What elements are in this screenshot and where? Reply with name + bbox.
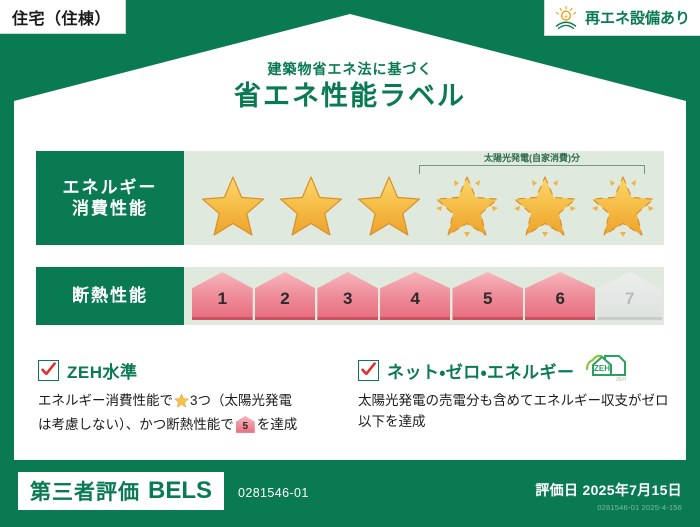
dwelling-type-tag: 住宅（住棟） [0, 0, 126, 34]
energy-performance-row: エネルギー 消費性能 太陽光発電(自家消費)分 [36, 151, 664, 245]
insulation-grade-panel: 1 2 3 4 5 6 7 [184, 267, 664, 325]
grade-house-6: 6 [525, 272, 595, 320]
svg-text:+: + [564, 14, 568, 20]
zeh-logo-icon: ZEH ZEH [585, 353, 631, 388]
energy-star-panel: 太陽光発電(自家消費)分 [184, 151, 664, 245]
inline-grade-house-icon: 5 [236, 416, 255, 433]
energy-performance-label: エネルギー 消費性能 [36, 151, 184, 245]
renewable-equipment-label: 再エネ設備あり [585, 7, 690, 28]
evaluation-date-label: 評価日 [535, 482, 578, 498]
energy-label-line2: 消費性能 [72, 198, 148, 219]
grade-value: 2 [280, 290, 289, 317]
grade-house-1: 1 [192, 272, 253, 320]
evaluation-date-subcode: 0281546-01 2025-4-156 [535, 503, 682, 512]
grade-value: 1 [218, 290, 227, 317]
label-subtitle: 建築物省エネ法に基づく [0, 62, 700, 77]
svg-text:ZEH: ZEH [594, 364, 610, 373]
star-filled [272, 170, 350, 242]
label-footer: 第三者評価 BELS 0281546-01 評価日 2025年7月15日 028… [0, 460, 700, 527]
zeh-description: エネルギー消費性能で3つ（太陽光発電は考慮しない）、かつ断熱性能で5を達成 [38, 391, 340, 436]
criteria-zeh-header: ZEH水準 [38, 358, 340, 382]
grade-value: 5 [483, 290, 492, 317]
insulation-grade-scale: 1 2 3 4 5 6 7 [192, 267, 664, 325]
svg-text:ZEH: ZEH [616, 377, 626, 383]
energy-label-line1: エネルギー [63, 177, 158, 198]
net-zero-checkbox[interactable] [358, 360, 379, 381]
bels-certificate-number: 0281546-01 [238, 486, 309, 500]
evaluation-date-block: 評価日 2025年7月15日 0281546-01 2025-4-156 [535, 480, 682, 512]
star-rating [184, 170, 664, 242]
label-title-block: 建築物省エネ法に基づく 省エネ性能ラベル [0, 62, 700, 112]
criteria-net-zero: ネット・ゼロ・エネルギー ZEH ZEH 太陽光発電の売電分も含めてエネルギー収… [358, 358, 670, 433]
grade-house-7: 7 [597, 272, 662, 320]
grade-value: 4 [411, 290, 420, 317]
net-zero-description: 太陽光発電の売電分も含めてエネルギー収支がゼロ以下を達成 [358, 391, 670, 433]
star-solar [428, 170, 506, 242]
check-icon [40, 361, 57, 378]
inline-grade-value: 5 [236, 422, 255, 432]
grade-house-3: 3 [317, 272, 378, 320]
insulation-performance-row: 断熱性能 1 2 3 4 5 6 [36, 267, 664, 325]
zeh-title: ZEH水準 [67, 358, 138, 383]
zeh-desc-part2: 3つ（太陽光発電 [190, 393, 292, 408]
renewable-equipment-tag: + 再エネ設備あり [544, 0, 700, 36]
check-icon [360, 361, 377, 378]
bels-evaluation-box: 第三者評価 BELS [18, 472, 224, 510]
grade-house-5: 5 [452, 272, 522, 320]
evaluation-date-value: 2025年7月15日 [582, 482, 682, 498]
star-solar [506, 170, 584, 242]
zeh-desc-part4: を達成 [257, 417, 298, 432]
zeh-desc-part1: エネルギー消費性能で [38, 393, 173, 408]
grade-value: 3 [343, 290, 352, 317]
bels-brand: BELS [148, 477, 212, 505]
criteria-zeh: ZEH水準 エネルギー消費性能で3つ（太陽光発電は考慮しない）、かつ断熱性能で5… [38, 358, 340, 436]
star-filled [194, 170, 272, 242]
inline-star-icon [174, 393, 189, 415]
sun-icon: + [553, 5, 579, 31]
grade-house-2: 2 [255, 272, 316, 320]
star-filled [350, 170, 428, 242]
solar-note-text: 太陽光発電(自家消費)分 [419, 154, 645, 163]
label-title: 省エネ性能ラベル [0, 82, 700, 112]
third-party-evaluation-label: 第三者評価 [30, 476, 140, 506]
insulation-label-text: 断熱性能 [72, 285, 148, 306]
star-solar [584, 170, 662, 242]
insulation-performance-label: 断熱性能 [36, 267, 184, 325]
net-zero-title: ネット・ゼロ・エネルギー [387, 358, 575, 383]
zeh-desc-part3: は考慮しない）、かつ断熱性能で [38, 417, 234, 432]
grade-house-4: 4 [380, 272, 450, 320]
criteria-net-zero-header: ネット・ゼロ・エネルギー ZEH ZEH [358, 358, 670, 382]
zeh-checkbox[interactable] [38, 360, 59, 381]
grade-value: 6 [555, 290, 564, 317]
evaluation-date: 評価日 2025年7月15日 [535, 480, 682, 500]
dwelling-type-label: 住宅（住棟） [12, 5, 111, 29]
bels-energy-label: 住宅（住棟） + 再エネ設備あり 建築物省エネ法に基づく 省エネ性能ラベ [0, 0, 700, 527]
grade-value: 7 [625, 290, 634, 317]
